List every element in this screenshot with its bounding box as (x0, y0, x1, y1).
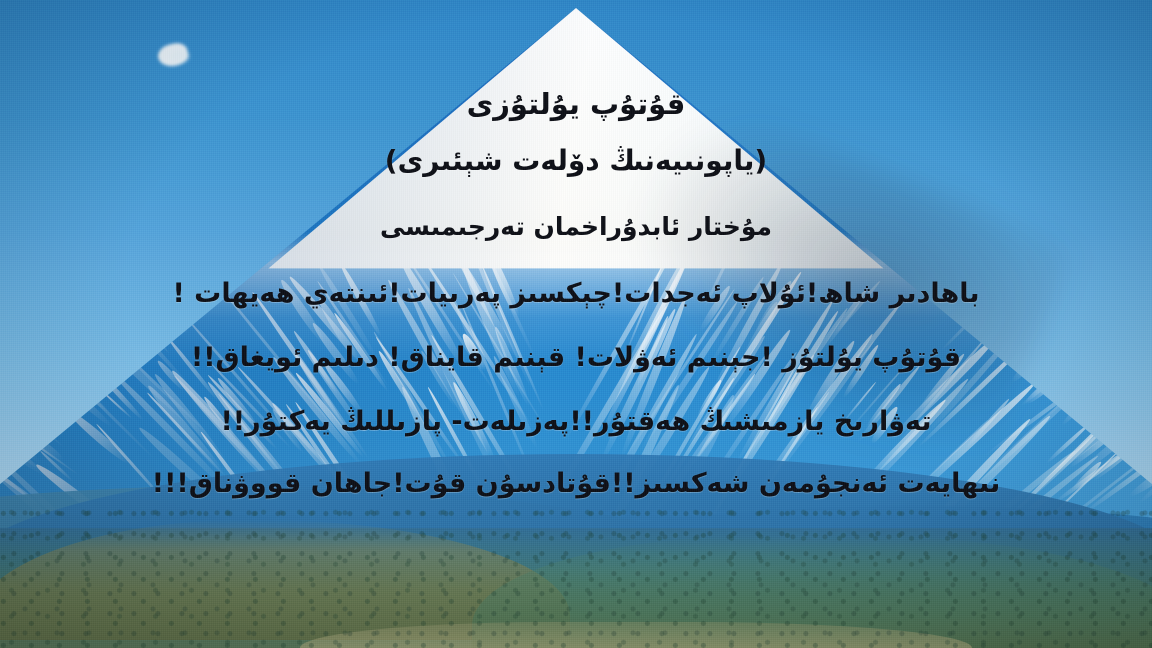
poem-subtitle: (ياپونىيەنىڭ دۆلەت شېئىرى) (0, 145, 1152, 177)
poem-translator: مۇختار ئابدۇراخمان تەرجىمىسى (0, 213, 1152, 242)
tree-texture (0, 498, 1152, 648)
poem-title: قۇتۇپ يۇلتۇزى (0, 88, 1152, 121)
snow-streak (1120, 371, 1152, 401)
poem-line-4: نىھايەت ئەنجۇمەن شەكسىز!!قۇتادسۇن قۇت!جا… (0, 468, 1152, 500)
poem-line-2: قۇتۇپ يۇلتۇز !جېنىم ئەۋلات! قېنىم قايناق… (0, 342, 1152, 374)
poem-line-3: تەۋارىخ يازمىشىڭ ھەقتۇر!!پەزىلەت- پازىلل… (0, 406, 1152, 438)
poem-line-1: باھادىر شاھ!ئۇلاپ ئەجدات!چېكسىز پەرىيات!… (0, 278, 1152, 310)
poster-canvas: قۇتۇپ يۇلتۇزى (ياپونىيەنىڭ دۆلەت شېئىرى)… (0, 0, 1152, 648)
